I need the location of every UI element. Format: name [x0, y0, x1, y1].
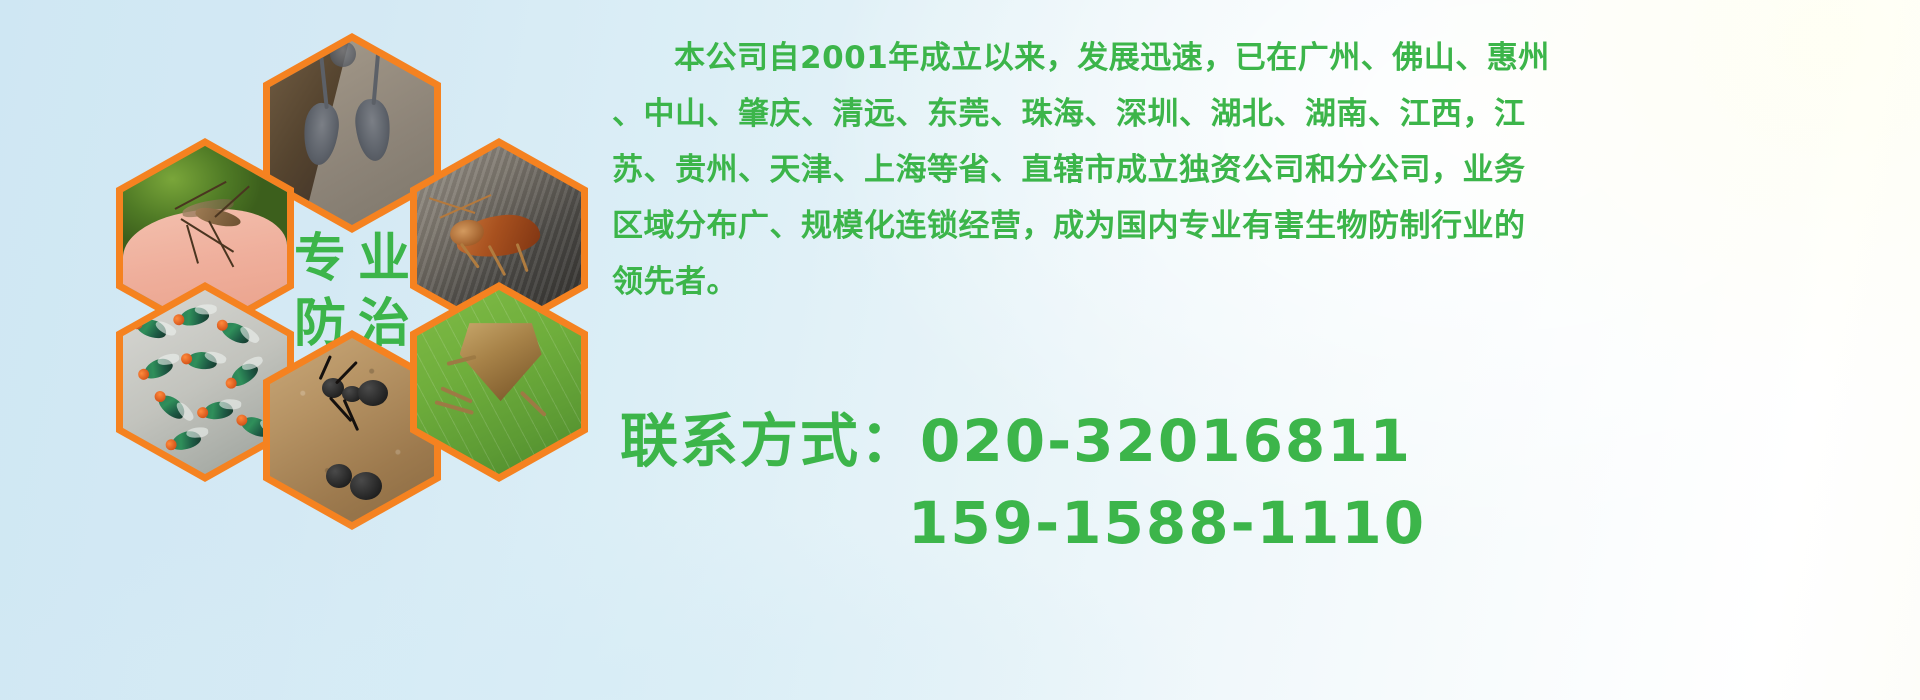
center-text-line1: 专业 — [282, 232, 422, 287]
pest-control-banner: 专业 防治 — [0, 0, 1920, 700]
flies-photo — [123, 290, 287, 474]
contact-phone-mobile[interactable]: 159-1588-1110 — [620, 482, 1920, 564]
copy-line-2: 、中山、肇庆、清远、东莞、珠海、深圳、湖北、湖南、江西，江 — [612, 86, 1900, 142]
contact-block: 联系方式：020-32016811 159-1588-1110 — [620, 400, 1920, 564]
hex-image-ant — [270, 338, 434, 522]
rat-tail-2 — [372, 49, 381, 105]
contact-phone-landline[interactable]: 联系方式：020-32016811 — [620, 400, 1920, 482]
rat-body-2 — [353, 98, 392, 163]
ant-abdomen — [358, 380, 388, 406]
ant-head — [322, 378, 344, 398]
company-description: 本公司自2001年成立以来，发展迅速，已在广州、佛山、惠州 、中山、肇庆、清远、… — [612, 30, 1900, 310]
fly — [227, 359, 261, 390]
fly — [178, 305, 211, 328]
copy-line-4: 区域分布广、规模化连锁经营，成为国内专业有害生物防制行业的 — [612, 198, 1900, 254]
rat-head-shadow — [330, 41, 356, 67]
fly — [155, 390, 189, 422]
fly — [169, 428, 203, 453]
stink-bug-photo — [417, 290, 581, 474]
fly — [202, 400, 234, 421]
fly — [141, 355, 175, 382]
fly — [186, 350, 218, 370]
ant-photo — [270, 338, 434, 522]
hex-image-flies — [123, 290, 287, 474]
ant-second-abdomen — [350, 472, 382, 500]
copy-line-3: 苏、贵州、天津、上海等省、直辖市成立独资公司和分公司，业务 — [612, 142, 1900, 198]
ant-second-head — [326, 464, 352, 488]
copy-line-5: 领先者。 — [612, 254, 1900, 310]
fly — [135, 316, 169, 341]
copy-line-1: 本公司自2001年成立以来，发展迅速，已在广州、佛山、惠州 — [612, 30, 1900, 86]
fly — [219, 318, 253, 347]
honeycomb-cluster: 专业 防治 — [80, 0, 600, 580]
hex-image-stink-bug — [417, 290, 581, 474]
